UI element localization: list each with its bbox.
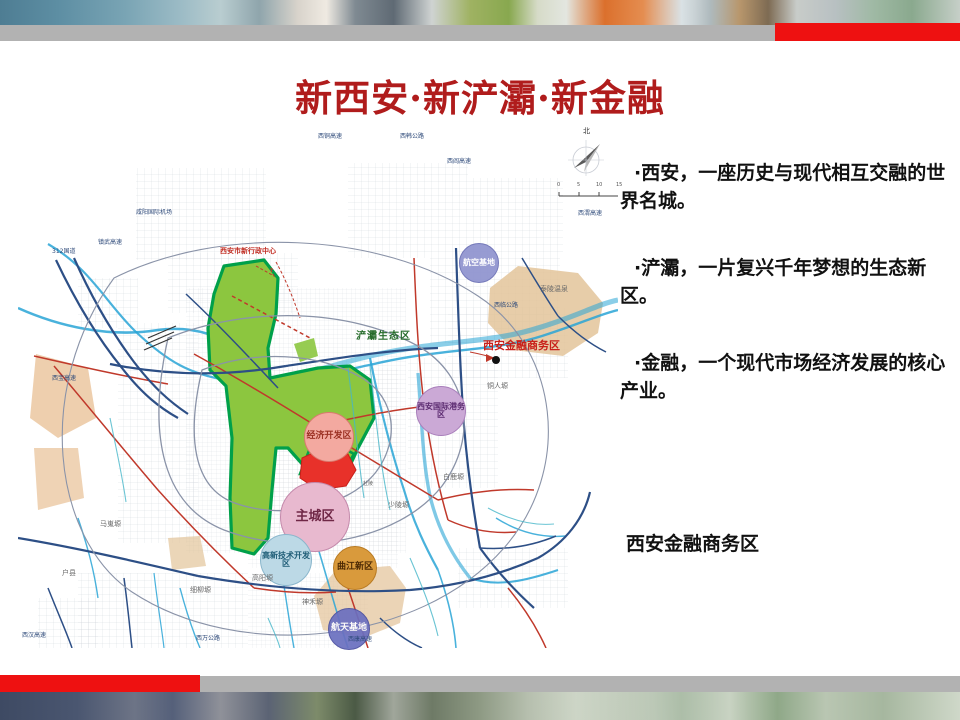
map-place-label-xiliu: 细柳塬 bbox=[190, 585, 211, 595]
map-road-label-312: 312国道 bbox=[52, 246, 75, 255]
map-place-label-tailing: 泰陵温泉 bbox=[540, 284, 568, 294]
district-label-main-city: 主城区 bbox=[295, 510, 334, 524]
bullet-item-finance: ·金融，一个现代市场经济发展的核心产业。 bbox=[620, 350, 950, 405]
map-road-label-xihan-exp: 西汉高速 bbox=[22, 630, 46, 639]
district-bubble-aerospace: 航天基地 bbox=[328, 608, 370, 650]
bottom-banner-photo bbox=[0, 692, 960, 720]
map-scale-bar bbox=[559, 192, 618, 196]
map-road-label-xiwan: 西万公路 bbox=[196, 633, 220, 642]
scale-tick-0: 0 bbox=[557, 182, 560, 188]
district-label-intl-port: 西安国际港务区 bbox=[417, 403, 465, 420]
map-place-label-tongren: 铜人塬 bbox=[487, 381, 508, 391]
slide-root: 新西安·新浐灞·新金融 bbox=[0, 0, 960, 720]
map-road-label-xianyang-airport: 咸阳国际机场 bbox=[136, 207, 172, 216]
footer-note: 西安金融商务区 bbox=[626, 529, 759, 556]
bottom-banner bbox=[0, 670, 960, 720]
map-place-label-mawei: 马嵬塬 bbox=[100, 519, 121, 529]
map-road-label-xitong: 西铜高速 bbox=[318, 131, 342, 140]
map-road-label-xibao: 西宝高速 bbox=[52, 373, 76, 382]
map-road-label-xilin: 西临公路 bbox=[494, 300, 518, 309]
map-road-label-xikang: 西康高速 bbox=[348, 634, 372, 643]
top-banner bbox=[0, 0, 960, 44]
compass-rose bbox=[568, 140, 604, 176]
map-place-label-duling: 杜陵 bbox=[363, 480, 373, 487]
district-label-economic-dev: 经济开发区 bbox=[306, 432, 351, 441]
district-label-qujiang: 曲江新区 bbox=[337, 563, 373, 572]
district-bubble-qujiang: 曲江新区 bbox=[333, 546, 377, 590]
map-place-label-huxian: 户县 bbox=[62, 568, 76, 578]
map-place-label-bailu: 白鹿塬 bbox=[443, 472, 464, 482]
xian-region-map: 主城区 经济开发区 高新技术开发区 曲江新区 航天基地 航空基地 西安国际港务区… bbox=[18, 118, 618, 648]
compass-north-label: 北 bbox=[583, 126, 590, 136]
map-label-chanba-eco-zone: 浐灞生态区 bbox=[356, 327, 411, 342]
district-bubble-intl-port: 西安国际港务区 bbox=[416, 386, 466, 436]
scale-tick-5: 5 bbox=[577, 182, 580, 188]
map-road-label-xiyan: 西阎高速 bbox=[447, 156, 471, 165]
bottom-white-divider bbox=[0, 670, 960, 673]
scale-tick-10: 10 bbox=[596, 182, 602, 188]
map-place-label-gaoyang: 高阳塬 bbox=[252, 573, 273, 583]
district-label-aerospace: 航天基地 bbox=[331, 624, 367, 633]
map-road-label-xihan-rd: 西韩公路 bbox=[400, 131, 424, 140]
map-road-label-xiwei: 西渭高速 bbox=[578, 208, 602, 217]
map-place-label-shaoling: 少陵塬 bbox=[388, 500, 409, 510]
map-callout-financial-district: 西安金融商务区 bbox=[483, 337, 560, 353]
map-callout-new-admin-center: 西安市新行政中心 bbox=[220, 246, 276, 256]
map-road-label-zhenwu: 镇武高速 bbox=[98, 237, 122, 246]
district-bubble-aviation: 航空基地 bbox=[459, 243, 499, 283]
district-label-hi-tech: 高新技术开发区 bbox=[261, 552, 311, 569]
district-bubble-economic-dev: 经济开发区 bbox=[304, 412, 354, 462]
bullet-item-xian: ·西安，一座历史与现代相互交融的世界名城。 bbox=[620, 160, 950, 215]
bullet-list: ·西安，一座历史与现代相互交融的世界名城。 ·浐灞，一片复兴千年梦想的生态新区。… bbox=[620, 160, 950, 445]
top-red-accent bbox=[775, 23, 960, 42]
district-label-aviation: 航空基地 bbox=[463, 259, 495, 267]
bullet-item-chanba: ·浐灞，一片复兴千年梦想的生态新区。 bbox=[620, 255, 950, 310]
financial-district-marker bbox=[492, 356, 500, 364]
page-title: 新西安·新浐灞·新金融 bbox=[0, 68, 960, 122]
map-place-label-shenhe: 神禾塬 bbox=[302, 597, 323, 607]
top-white-divider bbox=[0, 41, 960, 44]
map-vector bbox=[18, 118, 618, 648]
